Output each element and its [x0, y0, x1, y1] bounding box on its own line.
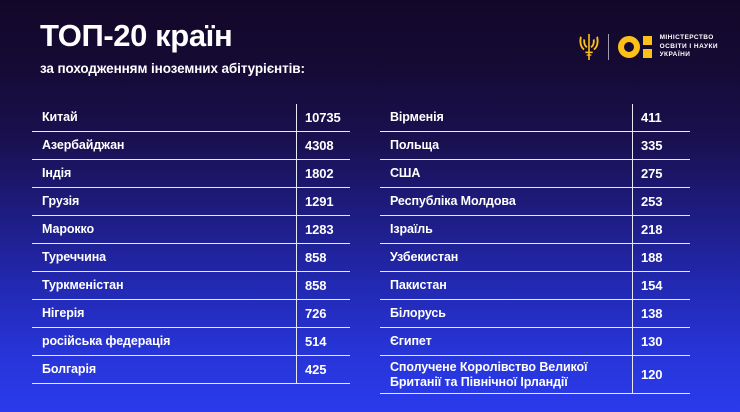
table-row: Туркменістан858: [32, 272, 350, 300]
country-name-cell: Республіка Молдова: [380, 191, 632, 212]
country-value-cell: 188: [632, 244, 690, 271]
ukraine-trident-icon: [579, 34, 599, 60]
table-row: Єгипет130: [380, 328, 690, 356]
table-row: Китай10735: [32, 104, 350, 132]
table-row: Болгарія425: [32, 356, 350, 384]
table-row: Узбекистан188: [380, 244, 690, 272]
country-name-cell: Туркменістан: [32, 275, 296, 296]
table-row: Вірменія411: [380, 104, 690, 132]
ministry-wordmark-line-3: УКРАЇНИ: [660, 51, 718, 59]
country-name-cell: Польща: [380, 135, 632, 156]
table-row: США275: [380, 160, 690, 188]
country-name-cell: Грузія: [32, 191, 296, 212]
table-row: Сполучене Королівство Великої Британії т…: [380, 356, 690, 394]
logo-squares-icon: [643, 36, 652, 58]
logo-square-bottom: [643, 49, 652, 58]
country-value-cell: 514: [296, 328, 350, 355]
table-row: Білорусь138: [380, 300, 690, 328]
country-name-cell: Узбекистан: [380, 247, 632, 268]
table-row: російська федерація514: [32, 328, 350, 356]
country-value-cell: 275: [632, 160, 690, 187]
country-value-cell: 1802: [296, 160, 350, 187]
logo-ring-icon: [618, 36, 640, 58]
country-name-cell: Білорусь: [380, 303, 632, 324]
country-value-cell: 858: [296, 244, 350, 271]
country-value-cell: 120: [632, 356, 690, 393]
country-table-right: Вірменія411Польща335США275Республіка Мол…: [380, 104, 690, 394]
table-row: Індія1802: [32, 160, 350, 188]
logo-divider: [608, 34, 609, 60]
slide-root: ТОП-20 країн за походженням іноземних аб…: [0, 0, 740, 412]
table-row: Азербайджан4308: [32, 132, 350, 160]
country-value-cell: 726: [296, 300, 350, 327]
table-row: Марокко1283: [32, 216, 350, 244]
country-name-cell: Сполучене Королівство Великої Британії т…: [380, 357, 632, 393]
country-name-cell: Азербайджан: [32, 135, 296, 156]
logo-square-top: [643, 36, 652, 45]
country-name-cell: Пакистан: [380, 275, 632, 296]
country-value-cell: 10735: [296, 104, 350, 131]
country-name-cell: Марокко: [32, 219, 296, 240]
country-name-cell: США: [380, 163, 632, 184]
ministry-wordmark-line-2: ОСВІТИ І НАУКИ: [660, 43, 718, 51]
country-value-cell: 425: [296, 356, 350, 383]
table-row: Ізраїль218: [380, 216, 690, 244]
country-table-left: Китай10735Азербайджан4308Індія1802Грузія…: [32, 104, 350, 384]
country-name-cell: Єгипет: [380, 331, 632, 352]
country-value-cell: 335: [632, 132, 690, 159]
country-name-cell: Туреччина: [32, 247, 296, 268]
table-row: Польща335: [380, 132, 690, 160]
ministry-wordmark: МІНІСТЕРСТВО ОСВІТИ І НАУКИ УКРАЇНИ: [660, 34, 718, 59]
country-value-cell: 858: [296, 272, 350, 299]
ministry-logo: МІНІСТЕРСТВО ОСВІТИ І НАУКИ УКРАЇНИ: [579, 30, 718, 64]
country-value-cell: 1283: [296, 216, 350, 243]
table-row: Республіка Молдова253: [380, 188, 690, 216]
country-value-cell: 4308: [296, 132, 350, 159]
country-name-cell: Китай: [32, 107, 296, 128]
table-row: Туреччина858: [32, 244, 350, 272]
ministry-wordmark-line-1: МІНІСТЕРСТВО: [660, 34, 718, 42]
country-name-cell: Ізраїль: [380, 219, 632, 240]
country-name-cell: Вірменія: [380, 107, 632, 128]
country-value-cell: 1291: [296, 188, 350, 215]
country-name-cell: Нігерія: [32, 303, 296, 324]
country-name-cell: Болгарія: [32, 359, 296, 380]
country-value-cell: 411: [632, 104, 690, 131]
country-value-cell: 138: [632, 300, 690, 327]
country-value-cell: 218: [632, 216, 690, 243]
table-row: Грузія1291: [32, 188, 350, 216]
mon-logo-mark: [618, 34, 652, 60]
country-value-cell: 154: [632, 272, 690, 299]
country-value-cell: 130: [632, 328, 690, 355]
table-row: Нігерія726: [32, 300, 350, 328]
country-name-cell: Індія: [32, 163, 296, 184]
country-name-cell: російська федерація: [32, 331, 296, 352]
country-value-cell: 253: [632, 188, 690, 215]
table-row: Пакистан154: [380, 272, 690, 300]
